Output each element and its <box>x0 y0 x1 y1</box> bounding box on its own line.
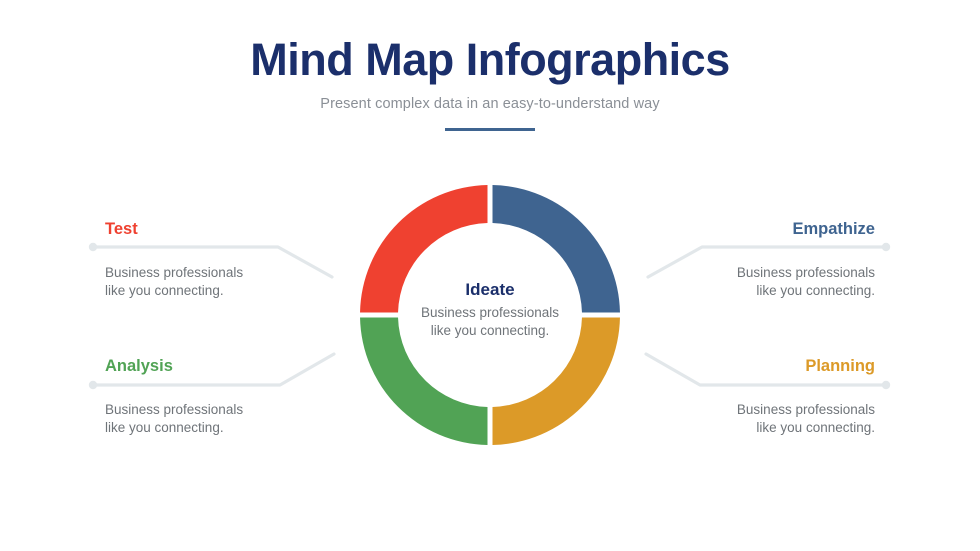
node-empathize-body: Business professionals like you connecti… <box>625 264 875 300</box>
node-analysis-body: Business professionals like you connecti… <box>105 401 355 437</box>
donut-chart: Ideate Business professionals like you c… <box>350 175 630 455</box>
node-test-body: Business professionals like you connecti… <box>105 264 355 300</box>
page-subtitle: Present complex data in an easy-to-under… <box>0 96 980 112</box>
node-planning-body: Business professionals like you connecti… <box>625 401 875 437</box>
connector-planning-dot <box>882 381 890 389</box>
node-empathize[interactable]: Empathize Business professionals like yo… <box>625 220 875 300</box>
node-empathize-label: Empathize <box>625 220 875 240</box>
node-test[interactable]: Test Business professionals like you con… <box>105 220 355 300</box>
connector-empathize-dot <box>882 243 890 251</box>
connector-test-dot <box>89 243 97 251</box>
donut-center-title: Ideate <box>394 279 586 301</box>
header: Mind Map Infographics Present complex da… <box>0 34 980 131</box>
node-test-label: Test <box>105 220 355 240</box>
node-planning[interactable]: Planning Business professionals like you… <box>625 357 875 437</box>
page-title: Mind Map Infographics <box>0 34 980 86</box>
node-planning-label: Planning <box>625 357 875 377</box>
donut-center-text: Ideate Business professionals like you c… <box>394 279 586 340</box>
node-analysis[interactable]: Analysis Business professionals like you… <box>105 357 355 437</box>
title-divider <box>445 128 535 131</box>
infographic-slide: Mind Map Infographics Present complex da… <box>0 0 980 551</box>
donut-center-body: Business professionals like you connecti… <box>394 304 586 340</box>
connector-analysis-dot <box>89 381 97 389</box>
node-analysis-label: Analysis <box>105 357 355 377</box>
